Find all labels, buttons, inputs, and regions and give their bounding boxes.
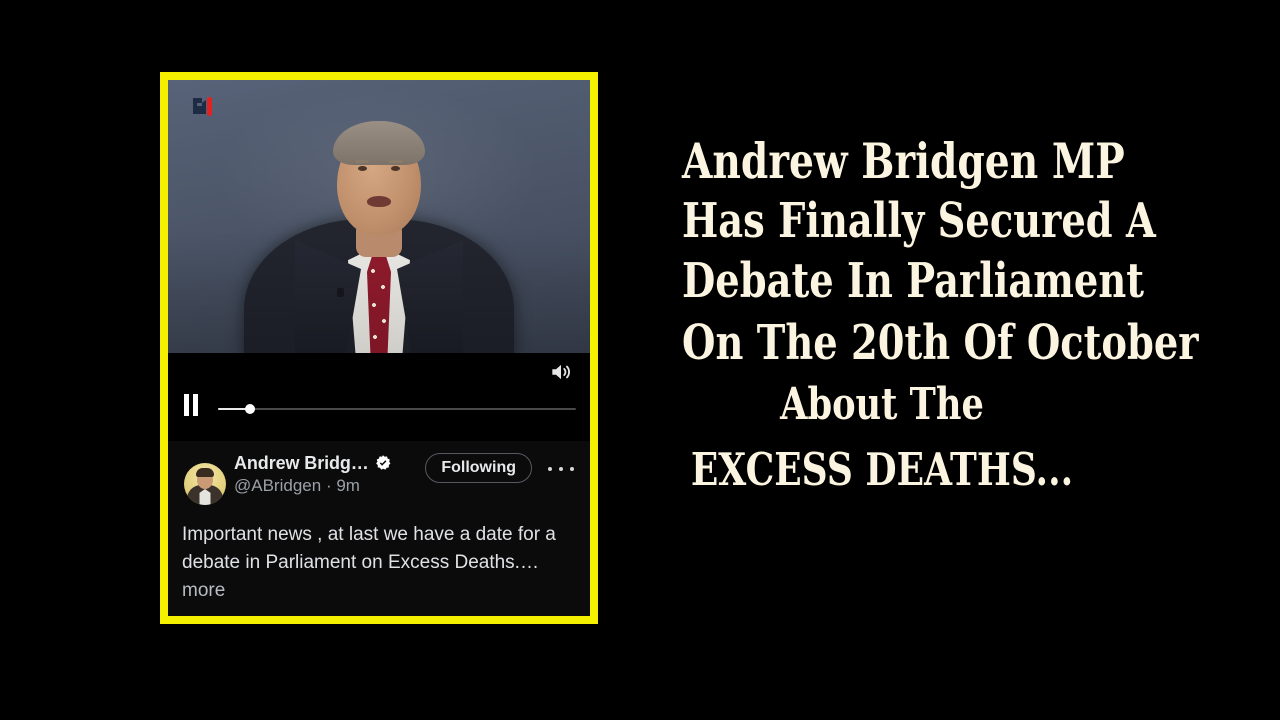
author-name-block: Andrew Bridg… @ABridgen · 9m	[234, 451, 392, 496]
display-name-row: Andrew Bridg…	[234, 451, 392, 475]
headline-line-4: On The 20th Of October	[682, 310, 1082, 376]
headline-text-block: Andrew Bridgen MP Has Finally Secured A …	[632, 132, 1132, 506]
pause-bar-left	[184, 394, 189, 416]
avatar-hair	[196, 468, 214, 477]
subject-eyebrow-right	[389, 160, 403, 163]
headline-line-5: About The	[682, 376, 1082, 434]
following-button[interactable]: Following	[425, 453, 532, 483]
subject-eye-right	[391, 166, 400, 171]
tweet-text-line-1: Important news , at last we have a date …	[182, 521, 576, 549]
meta-separator: ·	[326, 476, 332, 495]
show-more-link[interactable]: more	[182, 577, 576, 605]
more-dot-1	[548, 467, 552, 471]
more-dot-3	[570, 467, 574, 471]
pause-icon[interactable]	[182, 394, 200, 416]
tweet-card: Andrew Bridg… @ABridgen · 9m Following	[168, 80, 590, 616]
progress-track	[218, 408, 576, 410]
video-progress-slider[interactable]	[218, 403, 576, 415]
video-subject	[168, 80, 590, 353]
channel-logo-icon	[190, 94, 216, 120]
volume-on-icon[interactable]	[548, 359, 574, 385]
tweet-text-line-2: debate in Parliament on Excess Deaths.…	[182, 549, 576, 577]
progress-scrubber-handle[interactable]	[245, 404, 255, 414]
headline-line-2: Has Finally Secured A	[682, 190, 1082, 252]
author-display-name[interactable]: Andrew Bridg…	[234, 453, 369, 474]
headline-line-6: EXCESS DEATHS...	[682, 434, 1082, 506]
subject-tie	[367, 249, 391, 353]
video-player[interactable]	[168, 80, 590, 353]
tweet-author-row: Andrew Bridg… @ABridgen · 9m Following	[168, 441, 590, 515]
avatar[interactable]	[184, 463, 226, 505]
tweet-timestamp[interactable]: 9m	[336, 476, 360, 495]
headline-line-3: Debate In Parliament	[682, 252, 1082, 310]
subject-eye-left	[358, 166, 367, 171]
author-handle-and-time: @ABridgen · 9m	[234, 476, 392, 496]
author-handle[interactable]: @ABridgen	[234, 476, 321, 495]
subject-mouth	[367, 196, 391, 207]
video-thumbnail-canvas: Andrew Bridg… @ABridgen · 9m Following	[0, 0, 1280, 720]
more-dot-2	[559, 467, 563, 471]
tweet-card-frame: Andrew Bridg… @ABridgen · 9m Following	[160, 72, 598, 624]
pause-bar-right	[193, 394, 198, 416]
headline-line-1: Andrew Bridgen MP	[682, 132, 1082, 190]
subject-eyebrow-left	[355, 160, 369, 163]
more-options-icon[interactable]	[548, 461, 574, 477]
lapel-mic-icon	[337, 288, 344, 297]
verified-badge-icon	[374, 454, 392, 472]
subject-hair	[333, 121, 425, 165]
video-controls-bar	[168, 353, 590, 441]
tweet-text: Important news , at last we have a date …	[168, 515, 590, 605]
